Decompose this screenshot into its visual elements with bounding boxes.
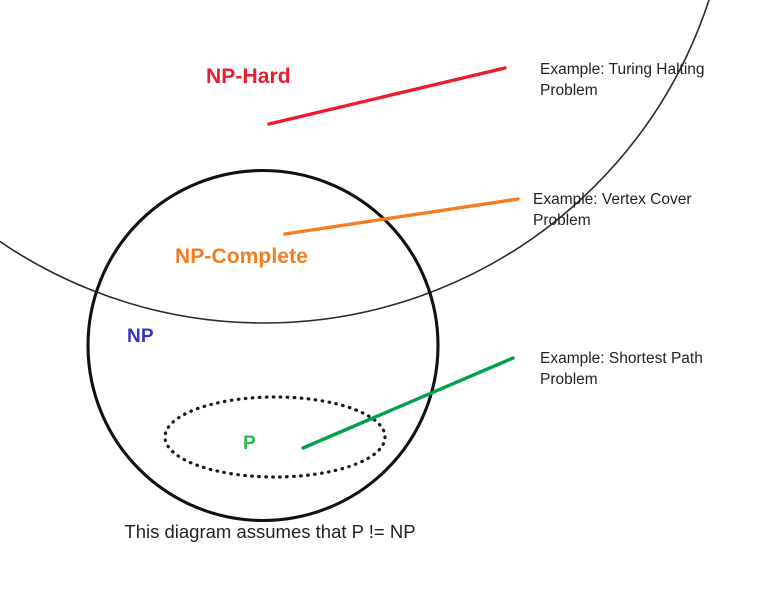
set-label-p: P (243, 433, 256, 455)
set-label-np-complete: NP-Complete (175, 245, 308, 269)
leader-line-np-hard (269, 68, 505, 124)
annotation-shortest-path-problem: Example: Shortest Path Problem (540, 348, 755, 390)
annotation-vertex-cover-problem: Example: Vertex Cover Problem (533, 189, 748, 231)
leader-line-np-complete (285, 199, 518, 234)
np-hard-set-outline (0, 0, 732, 323)
diagram-caption: This diagram assumes that P != NP (0, 521, 540, 543)
complexity-venn-diagram: NP-Hard NP-Complete NP P Example: Turing… (0, 0, 778, 598)
set-label-np-hard: NP-Hard (206, 65, 291, 89)
p-set-outline (165, 397, 385, 477)
set-label-np: NP (127, 326, 154, 348)
annotation-turing-halting-problem: Example: Turing Halting Problem (540, 59, 755, 101)
leader-line-p (303, 358, 513, 448)
